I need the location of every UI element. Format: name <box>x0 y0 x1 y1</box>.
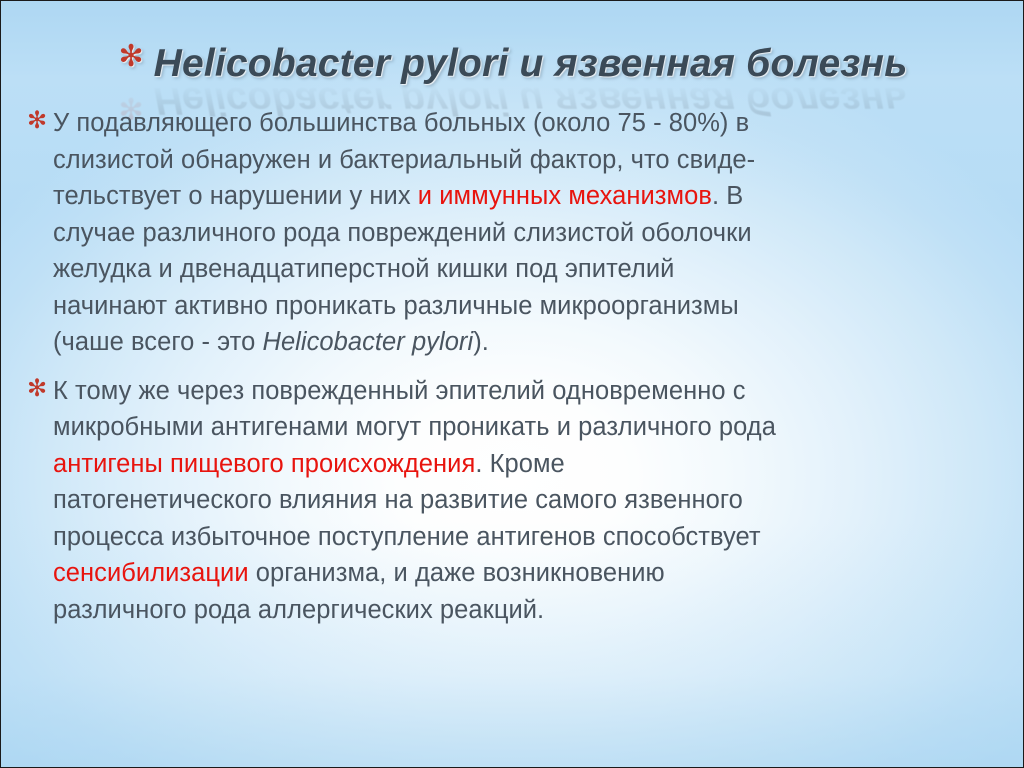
text-run: случае различного рода повреждений слизи… <box>53 219 752 247</box>
text-run: патогенетического влияния на развитие са… <box>53 486 743 514</box>
asterisk-icon: ✻ <box>118 40 143 73</box>
bullet-paragraph-2: ✻ К тому же через поврежденный эпителий … <box>27 373 979 629</box>
asterisk-bullet-icon-2: ✻ <box>27 374 47 404</box>
slide-title-line: ✻Helicobacter pylori и язвенная болезнь <box>118 41 907 85</box>
asterisk-bullet-icon-1: ✻ <box>27 106 47 136</box>
paragraph-line: микробными антигенами могут проникать и … <box>53 409 979 446</box>
species-name-text-run: Helicobacter pylori <box>262 328 473 356</box>
highlighted-text-run: антигены пищевого происхождения <box>53 450 475 478</box>
text-run: . В <box>712 182 743 210</box>
slide-body: ✻ У подавляющего большинства больных (ок… <box>27 105 979 628</box>
paragraph-line: тельствует о нарушении у них и иммунных … <box>53 178 979 215</box>
text-run: различного рода аллергических реакций. <box>53 596 544 624</box>
text-run: (чаше всего - это <box>53 328 262 356</box>
text-run: начинают активно проникать различные мик… <box>53 292 739 320</box>
text-run: слизистой обнаружен и бактериальный факт… <box>53 146 755 174</box>
paragraph-line: сенсибилизации организма, и даже возникн… <box>53 555 979 592</box>
highlighted-text-run: сенсибилизации <box>53 559 249 587</box>
paragraph-line: различного рода аллергических реакций. <box>53 592 979 629</box>
text-run: ). <box>473 328 489 356</box>
text-run: . Кроме <box>475 450 564 478</box>
paragraph-line: У подавляющего большинства больных (окол… <box>53 105 979 142</box>
text-run: тельствует о нарушении у них <box>53 182 418 210</box>
bullet-paragraph-1: ✻ У подавляющего большинства больных (ок… <box>27 105 979 361</box>
paragraph-line: начинают активно проникать различные мик… <box>53 288 979 325</box>
text-run: процесса избыточное поступление антигено… <box>53 523 761 551</box>
paragraph-line: процесса избыточное поступление антигено… <box>53 519 979 556</box>
text-run: микробными антигенами могут проникать и … <box>53 413 776 441</box>
paragraph-line: желудка и двенадцатиперстной кишки под э… <box>53 251 979 288</box>
paragraph-line: (чаше всего - это Helicobacter pylori). <box>53 324 979 361</box>
paragraph-line: патогенетического влияния на развитие са… <box>53 482 979 519</box>
paragraph-line: антигены пищевого происхождения. Кроме <box>53 446 979 483</box>
paragraph-line: случае различного рода повреждений слизи… <box>53 215 979 252</box>
paragraph-line: слизистой обнаружен и бактериальный факт… <box>53 142 979 179</box>
slide-title: ✻Helicobacter pylori и язвенная болезнь <box>1 41 1024 85</box>
paragraph-line: К тому же через поврежденный эпителий од… <box>53 373 979 410</box>
slide-canvas: ✻Helicobacter pylori и язвенная болезнь … <box>0 0 1024 768</box>
highlighted-text-run: и иммунных механизмов <box>418 182 712 210</box>
text-run: желудка и двенадцатиперстной кишки под э… <box>53 255 674 283</box>
text-run: К тому же через поврежденный эпителий од… <box>53 377 746 405</box>
slide-title-text: Helicobacter pylori и язвенная болезнь <box>154 42 908 85</box>
text-run: У подавляющего большинства больных (окол… <box>53 109 749 137</box>
text-run: организма, и даже возникновению <box>249 559 665 587</box>
